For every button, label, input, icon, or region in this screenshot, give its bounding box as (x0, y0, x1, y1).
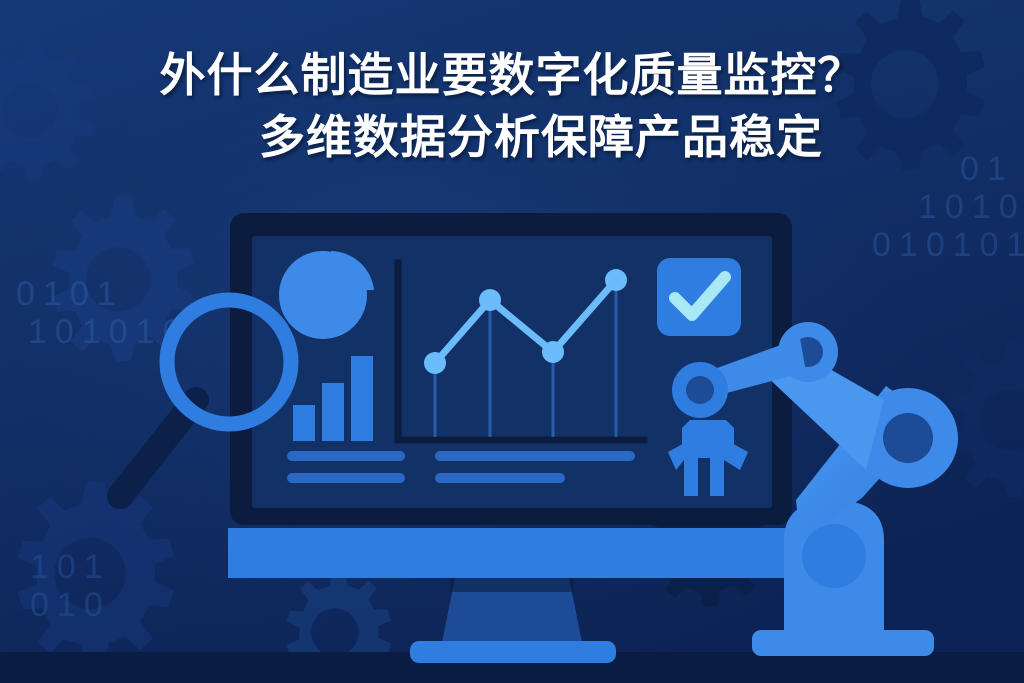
robot-elbow-hole (883, 413, 933, 463)
chart-point-2 (479, 289, 501, 311)
monitor-bezel-bottom (228, 528, 794, 578)
chart-point-3 (542, 341, 564, 363)
hero-illustration: 0101 101010 01 1010 010101 101 010 (0, 0, 1024, 683)
artwork-layer (0, 0, 1024, 683)
robot-base-foot (752, 630, 934, 656)
bar-2 (322, 383, 344, 441)
monitor-stand-base (410, 641, 616, 663)
chart-point-4 (605, 269, 627, 291)
monitor-stand-shadow (450, 578, 574, 592)
robot-base-joint (802, 524, 866, 588)
quality-pass-check (657, 258, 741, 336)
placeholder-line-2-right (435, 473, 565, 483)
bar-3 (351, 356, 373, 441)
placeholder-line-1-left (287, 451, 405, 461)
chart-point-1 (424, 352, 446, 374)
placeholder-line-1-right (435, 451, 635, 461)
bar-1 (293, 405, 315, 441)
robot-wrist-hole (686, 376, 714, 404)
placeholder-line-2-left (287, 473, 405, 483)
